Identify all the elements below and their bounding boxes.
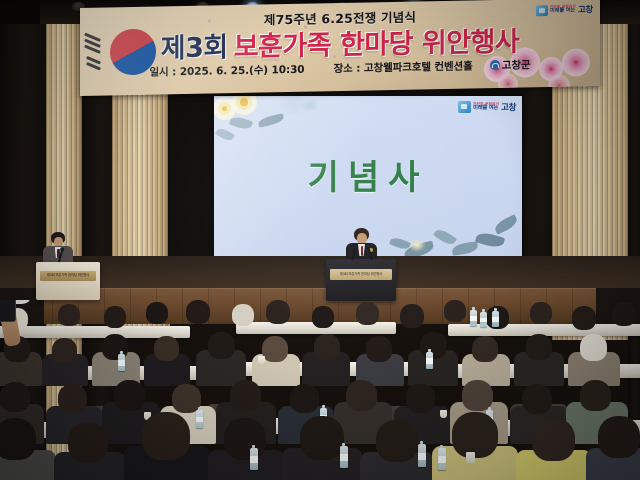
podium-main-plate: 제3회 보훈가족 한마당 위안행사 — [330, 269, 392, 280]
leaf-icon — [215, 126, 235, 143]
banner-details: 일시 : 2025. 6. 25.(수) 10:30 장소 : 고창웰파크호텔 … — [80, 56, 600, 81]
banner-title-main: 보훈가족 한마당 위안행사 — [234, 27, 520, 63]
conference-photo-scene: 찬란한 문화유산 미래를 여는 고창 제75주년 6.25전쟁 기념식 제3회보… — [0, 0, 640, 480]
mugunghwa-icon — [510, 47, 540, 78]
podium-main[interactable]: 제3회 보훈가족 한마당 위안행사 — [326, 259, 396, 301]
audience-area — [0, 300, 640, 480]
flower-cluster-icon — [300, 98, 320, 112]
logo-tagline-top: 찬란한 문화유산 — [550, 5, 576, 9]
speaker-tie — [361, 246, 364, 256]
gochang-mark-icon — [536, 5, 548, 16]
banner-place: 장소 : 고창웰파크호텔 컨벤션홀 — [334, 60, 473, 75]
gochang-mark-icon — [458, 101, 471, 113]
podium-side[interactable]: 제3회 보훈가족 한마당 위안행사 — [36, 262, 100, 300]
slide-logo: 찬란한 문화유산 미래를 여는 고창 — [458, 101, 516, 113]
slide-logo-name: 고창 — [501, 101, 516, 113]
logo-name: 고창 — [578, 3, 593, 15]
slide-title: 기념사 — [214, 150, 522, 199]
banner-date: 일시 : 2025. 6. 25.(수) 10:30 — [150, 64, 305, 79]
slide-logo-tagline-mid: 미래를 여는 — [473, 106, 499, 111]
leaf-icon — [433, 227, 457, 248]
leaf-icon — [493, 214, 519, 234]
mugunghwa-icon — [539, 57, 563, 81]
gochang-emblem-icon — [490, 60, 500, 70]
banner-subtitle: 제75주년 6.25전쟁 기념식 — [80, 3, 600, 32]
smartphone-icon — [0, 300, 16, 322]
gochang-logo: 찬란한 문화유산 미래를 여는 고창 — [536, 3, 593, 16]
flower-icon — [408, 238, 426, 252]
daisy-icon — [236, 96, 252, 110]
banner-title-ordinal: 제3회 — [161, 32, 228, 64]
leaf-icon — [451, 241, 478, 256]
korean-flag-icon — [80, 10, 188, 92]
mugunghwa-icon — [484, 56, 510, 82]
leaf-icon — [229, 115, 253, 131]
audience-row-front — [0, 432, 640, 480]
audience-row-mid-back — [0, 332, 640, 384]
podium-side-plate: 제3회 보훈가족 한마당 위안행사 — [40, 271, 96, 281]
mugunghwa-icon — [562, 48, 590, 77]
daisy-icon — [218, 102, 231, 115]
logo-tagline-mid: 미래를 여는 — [550, 9, 576, 15]
event-banner: 찬란한 문화유산 미래를 여는 고창 제75주년 6.25전쟁 기념식 제3회보… — [80, 0, 600, 96]
banner-org: 고창군 — [502, 59, 531, 72]
banner-title: 제3회보훈가족 한마당 위안행사 — [80, 18, 600, 67]
